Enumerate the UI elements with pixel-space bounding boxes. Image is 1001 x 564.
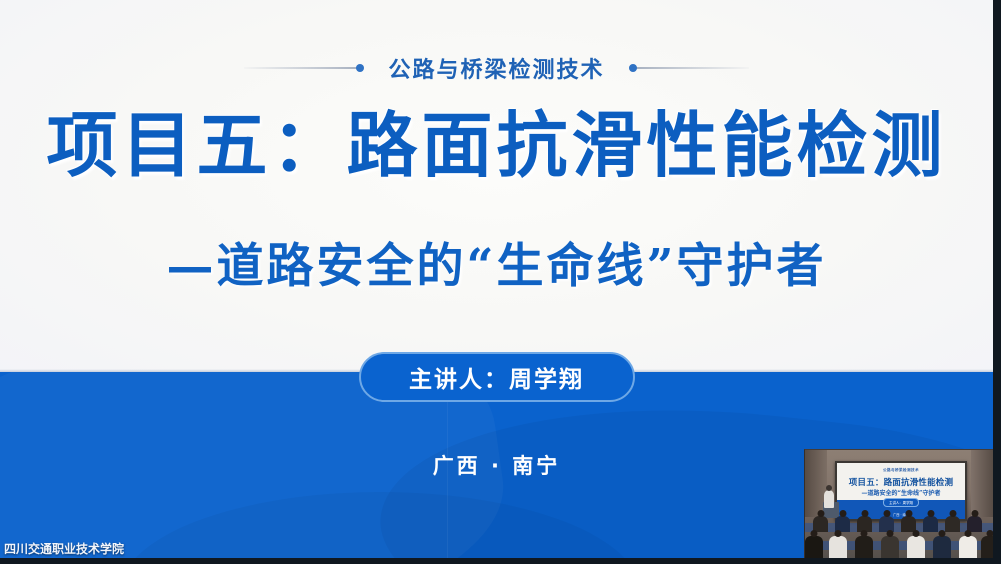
projection-location: 广西 · 南宁 [837, 512, 965, 517]
slide-title: 项目五：路面抗滑性能检测 [0, 110, 993, 181]
audience-member [923, 516, 938, 532]
audience-member [945, 516, 960, 532]
audience-member [933, 536, 951, 558]
audience-member [959, 536, 977, 558]
audience-member [907, 536, 925, 558]
projection-screen: 公路与桥梁检测技术 项目五：路面抗滑性能检测 —道路安全的“生命线”守护者 主讲… [835, 461, 967, 521]
video-player-frame: 公路与桥梁检测技术 项目五：路面抗滑性能检测 —道路安全的“生命线”守护者 主讲… [0, 0, 1001, 564]
audience-member [981, 536, 993, 558]
audience-member [855, 536, 873, 558]
hall-wall-right [971, 450, 993, 517]
decorative-rule-right-icon [631, 67, 749, 69]
institution-watermark: 四川交通职业技术学院 [4, 540, 124, 557]
course-eyebrow: 公路与桥梁检测技术 [0, 52, 993, 84]
presenter-figure [824, 490, 834, 508]
picture-in-picture-camera[interactable]: 公路与桥梁检测技术 项目五：路面抗滑性能检测 —道路安全的“生命线”守护者 主讲… [804, 449, 993, 558]
course-name: 公路与桥梁检测技术 [388, 52, 604, 84]
projection-course-name: 公路与桥梁检测技术 [837, 468, 965, 473]
audience-member [805, 536, 823, 558]
decorative-rule-left-icon [244, 67, 362, 69]
audience-member [881, 536, 899, 558]
projection-speaker-badge: 主讲人：周学翔 [883, 498, 919, 507]
projection-subtitle: —道路安全的“生命线”守护者 [837, 488, 965, 497]
speaker-badge: 主讲人：周学翔 [359, 352, 635, 402]
letterbox-bar-right [993, 0, 1001, 564]
letterbox-bar-bottom [0, 558, 1001, 564]
audience-member [829, 536, 847, 558]
slide-subtitle: —道路安全的“生命线”守护者 [0, 243, 993, 290]
projection-title: 项目五：路面抗滑性能检测 [837, 476, 965, 488]
